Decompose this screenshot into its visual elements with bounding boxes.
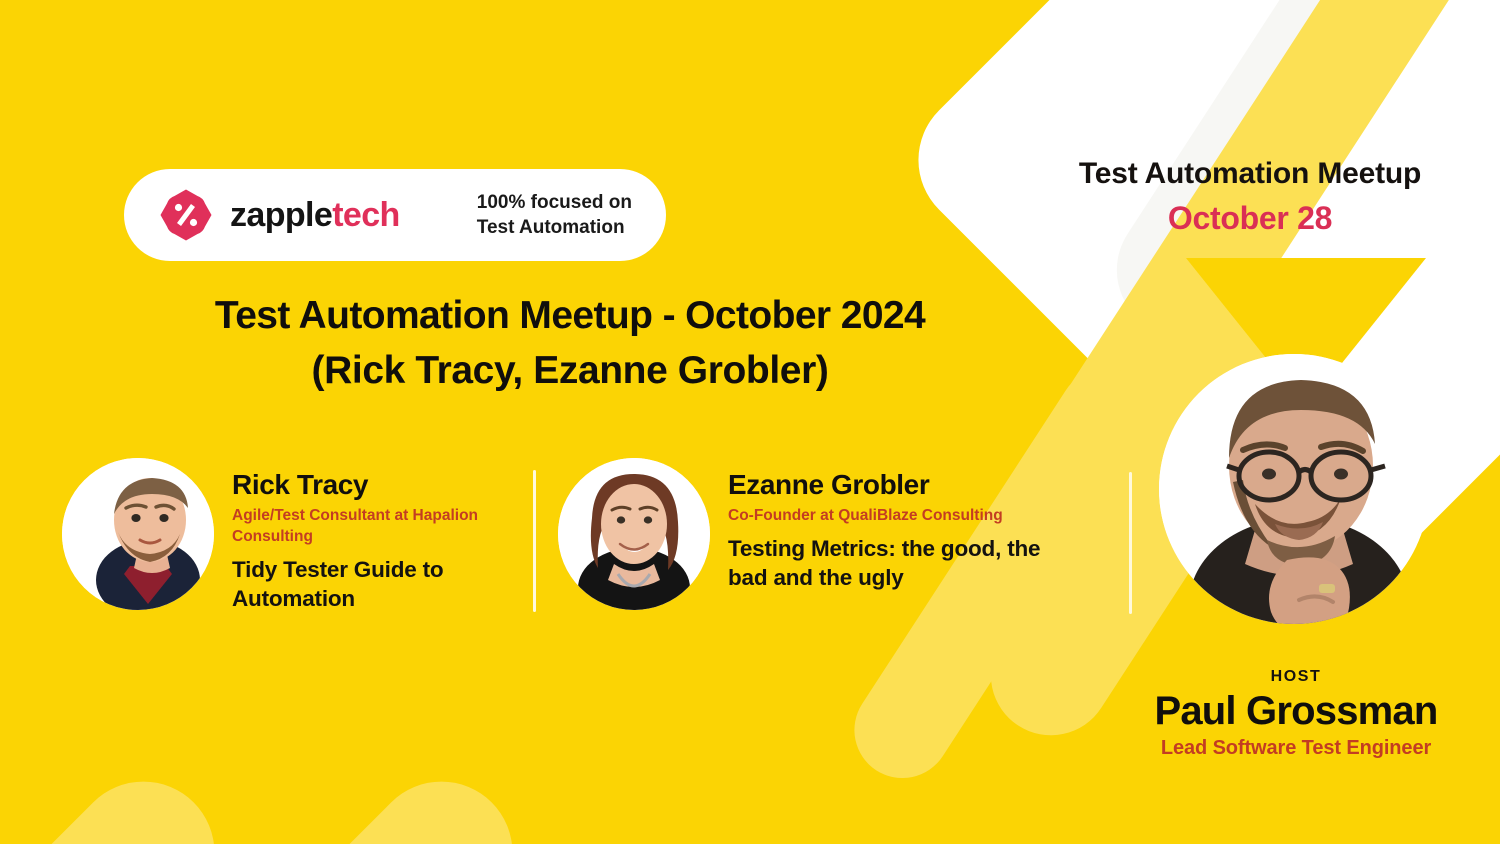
decorative-slash-shape: [116, 752, 542, 844]
host-name: Paul Grossman: [1100, 689, 1492, 733]
headline-line-1: Test Automation Meetup - October 2024: [40, 292, 1100, 340]
host-photo-paul-grossman: [1159, 354, 1429, 624]
brand-wordmark-part1: zapple: [230, 196, 332, 234]
speaker-topic: Tidy Tester Guide to Automation: [232, 555, 512, 614]
decorative-slash-shape: [0, 752, 244, 844]
speaker-topic: Testing Metrics: the good, the bad and t…: [728, 534, 1078, 593]
host-role: Lead Software Test Engineer: [1100, 737, 1492, 760]
headline-line-2: (Rick Tracy, Ezanne Grobler): [40, 347, 1100, 395]
section-divider: [533, 470, 536, 612]
speaker-details: Rick Tracy Agile/Test Consultant at Hapa…: [232, 458, 512, 614]
brand-wordmark: zappletech: [230, 196, 400, 235]
zappletech-percent-diamond-icon: [158, 187, 214, 243]
speaker-card: Ezanne Grobler Co-Founder at QualiBlaze …: [558, 458, 1118, 610]
speaker-photo-rick-tracy: [62, 458, 214, 610]
speaker-photo-ezanne-grobler: [558, 458, 710, 610]
callout-title: Test Automation Meetup: [1026, 156, 1474, 192]
brand-tagline: 100% focused on Test Automation: [477, 190, 632, 240]
section-divider: [1129, 472, 1132, 614]
meetup-promo-banner: zappletech 100% focused on Test Automati…: [0, 0, 1500, 844]
brand-tagline-line1: 100% focused on: [477, 190, 632, 215]
speaker-name: Rick Tracy: [232, 470, 512, 501]
event-callout: Test Automation Meetup October 28: [1026, 156, 1474, 237]
speaker-details: Ezanne Grobler Co-Founder at QualiBlaze …: [728, 458, 1078, 593]
speaker-role: Co-Founder at QualiBlaze Consulting: [728, 506, 1078, 527]
brand-tagline-line2: Test Automation: [477, 215, 632, 240]
brand-logo-badge: zappletech 100% focused on Test Automati…: [124, 169, 666, 261]
speaker-card: Rick Tracy Agile/Test Consultant at Hapa…: [62, 458, 512, 614]
callout-date: October 28: [1026, 200, 1474, 237]
host-details: HOST Paul Grossman Lead Software Test En…: [1100, 668, 1492, 760]
host-label: HOST: [1100, 668, 1492, 686]
page-title: Test Automation Meetup - October 2024 (R…: [40, 292, 1100, 394]
speaker-role: Agile/Test Consultant at Hapalion Consul…: [232, 506, 512, 548]
brand-wordmark-part2: tech: [332, 196, 400, 234]
speaker-name: Ezanne Grobler: [728, 470, 1078, 501]
